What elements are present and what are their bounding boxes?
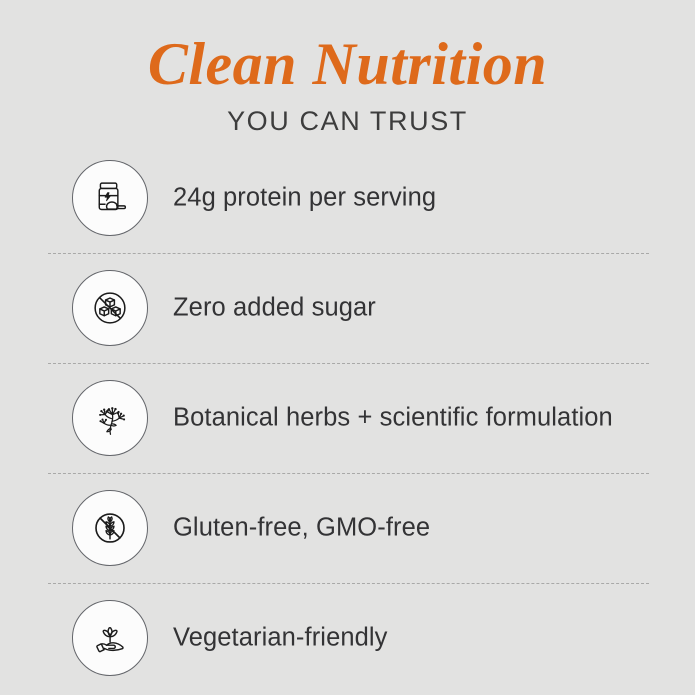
clean-nutrition-infographic: Clean Nutrition YOU CAN TRUST 24g protei… [0,0,695,695]
hand-holding-plant-icon [72,600,148,676]
benefits-list: 24g protein per serving [0,143,695,693]
list-item-label: Zero added sugar [173,293,376,322]
list-item: Vegetarian-friendly [0,583,695,693]
list-item-label: Vegetarian-friendly [173,623,388,652]
divider [48,473,649,474]
list-item-label: Botanical herbs + scientific formulation [173,403,613,432]
page-subtitle: YOU CAN TRUST [0,108,695,135]
no-sugar-cubes-icon [72,270,148,346]
herb-sprig-icon [72,380,148,456]
page-title: Clean Nutrition [0,34,695,94]
divider [48,253,649,254]
divider [48,583,649,584]
list-item: Zero added sugar [0,253,695,363]
list-item: 24g protein per serving [0,143,695,253]
list-item-label: Gluten-free, GMO-free [173,513,430,542]
protein-jar-scoop-icon [72,160,148,236]
list-item-label: 24g protein per serving [173,183,436,212]
list-item: Botanical herbs + scientific formulation [0,363,695,473]
no-wheat-icon [72,490,148,566]
list-item: Gluten-free, GMO-free [0,473,695,583]
divider [48,363,649,364]
header: Clean Nutrition YOU CAN TRUST [0,0,695,135]
